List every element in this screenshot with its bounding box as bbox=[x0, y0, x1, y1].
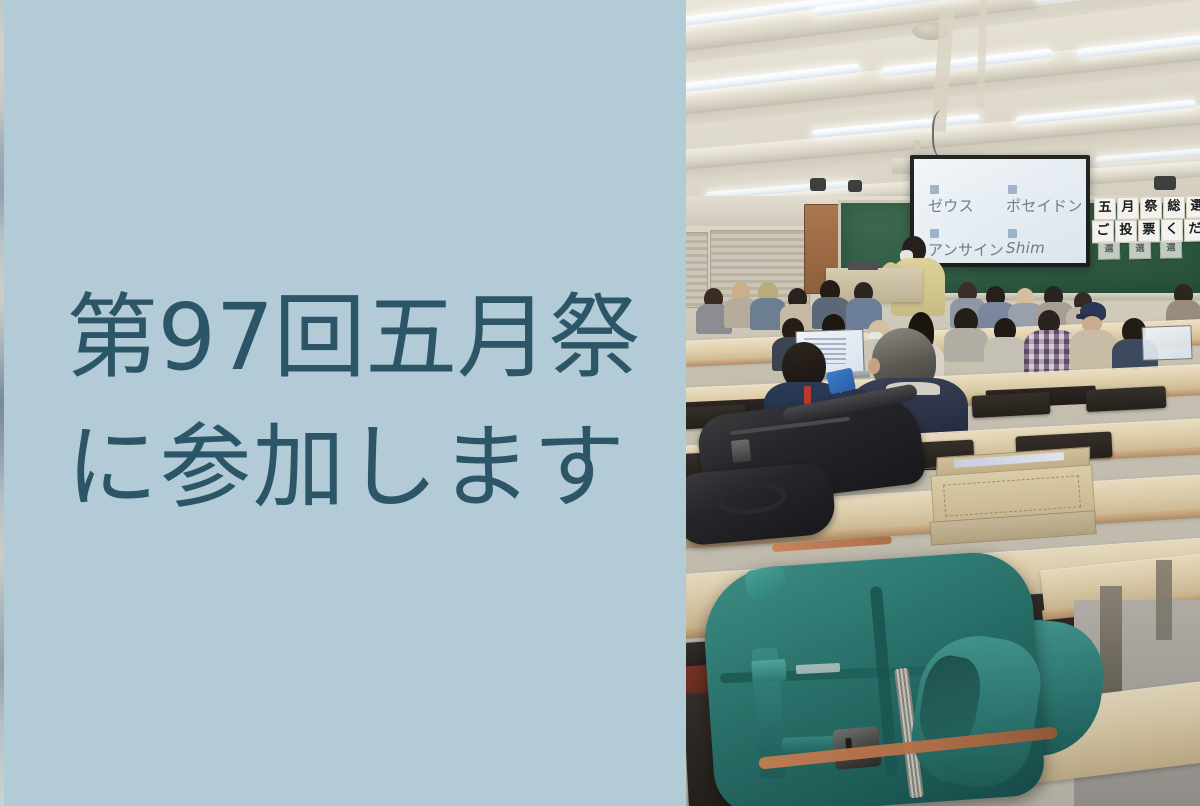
sign-char: 票 bbox=[1138, 219, 1160, 242]
wall-speaker-left bbox=[810, 178, 826, 191]
person-body bbox=[944, 328, 988, 362]
page-title: 第97回五月祭 に参加します bbox=[66, 286, 626, 520]
projector-screen: ゼウス ポセイドン アンサイン Shim bbox=[914, 159, 1086, 263]
person-body bbox=[984, 337, 1028, 373]
lecture-hall-photo: ゼウス ポセイドン アンサイン Shim 五 月 祭 総 選 挙 に ご 投 票… bbox=[686, 0, 1200, 806]
chalkboard-sign-row-2: ご 投 票 く だ さ い bbox=[1092, 218, 1200, 244]
projector-cable bbox=[932, 110, 956, 158]
slide-icon-2 bbox=[1008, 185, 1017, 194]
laptop-screen-right bbox=[1141, 325, 1192, 361]
adult-ear bbox=[868, 358, 880, 374]
sign-char: ご bbox=[1092, 220, 1114, 243]
wall-speaker-right bbox=[1154, 176, 1176, 190]
slide-icon-4 bbox=[1008, 229, 1017, 238]
sign-char: 総 bbox=[1163, 196, 1185, 219]
sign-char: 投 bbox=[1115, 220, 1137, 243]
lectern-laptop bbox=[848, 262, 878, 270]
sign-char: 五 bbox=[1094, 197, 1116, 220]
slide-item-3: アンサイン bbox=[928, 239, 1004, 260]
poster-canvas: 第97回五月祭 に参加します bbox=[0, 0, 1200, 806]
slide-icon-1 bbox=[930, 185, 939, 194]
sign-char: 祭 bbox=[1140, 196, 1162, 219]
backpack-buckle bbox=[731, 439, 751, 463]
chair-back-c2 bbox=[971, 392, 1050, 418]
slide-item-1: ゼウス bbox=[928, 195, 974, 216]
headline-line-1: 第97回五月祭 bbox=[66, 286, 626, 390]
chalkboard-sign-row-1: 五 月 祭 総 選 挙 に bbox=[1094, 195, 1200, 221]
slide-icon-3 bbox=[930, 229, 939, 238]
sign-char: だ bbox=[1184, 218, 1200, 241]
sign-char-small: 選 bbox=[1160, 240, 1182, 258]
sign-char: く bbox=[1161, 219, 1183, 242]
sign-char-small: 選 bbox=[1129, 241, 1151, 259]
person-body bbox=[1070, 330, 1116, 370]
slide-item-4: Shim bbox=[1006, 239, 1045, 257]
desk-leg-right-2 bbox=[1156, 560, 1172, 640]
chair-back-c3 bbox=[1085, 386, 1166, 412]
sign-char: 月 bbox=[1117, 197, 1139, 220]
text-panel: 第97回五月祭 に参加します bbox=[0, 0, 686, 806]
wall-speaker-mid bbox=[848, 180, 862, 192]
headline-line-2: に参加します bbox=[66, 416, 626, 520]
sign-char: 選 bbox=[1186, 195, 1200, 218]
photo-edge-sliver bbox=[0, 0, 4, 806]
slide-item-2: ポセイドン bbox=[1006, 195, 1083, 216]
chalkboard-sign-row-3: 選 選 選 bbox=[1098, 240, 1183, 259]
desk-leg-right bbox=[1100, 586, 1122, 696]
sign-char-small: 選 bbox=[1098, 241, 1120, 259]
teal-bag-strap-buckle bbox=[751, 659, 786, 683]
projector-screen-frame: ゼウス ポセイドン アンサイン Shim bbox=[910, 155, 1090, 267]
